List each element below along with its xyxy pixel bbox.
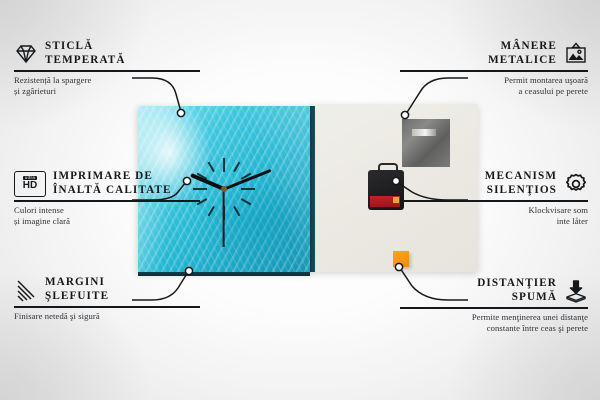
callout-sub-line2: inte låter: [398, 216, 588, 227]
beveled-edge-icon: [14, 278, 38, 302]
feature-callout-mecanism-silentios: MECANISM SILENŢIOS Klockvisare som inte …: [398, 170, 588, 227]
callout-rule: [400, 70, 588, 72]
callout-title-line1: STICLĂ: [45, 40, 126, 54]
glass-edge-right: [310, 106, 315, 272]
feature-callout-sticla-temperata: STICLĂ TEMPERATĂ Rezistență la spargere …: [14, 40, 204, 97]
callout-head: MÂNERE METALICE: [398, 40, 588, 67]
callout-head: STICLĂ TEMPERATĂ: [14, 40, 204, 67]
clock-hand-cap: [221, 186, 227, 192]
callout-rule: [14, 70, 200, 72]
callout-title-line2: METALICE: [488, 54, 557, 68]
battery: [370, 196, 400, 207]
callout-sub-line2: constante între ceas şi perete: [398, 323, 588, 334]
callout-title-line2: TEMPERATĂ: [45, 54, 126, 68]
clock-face: [138, 106, 310, 272]
callout-title-line1: MECANISM: [485, 170, 557, 184]
product-image-front: [138, 106, 310, 272]
infographic-canvas: STICLĂ TEMPERATĂ Rezistență la spargere …: [0, 0, 600, 400]
callout-title-block: MECANISM SILENŢIOS: [485, 170, 557, 197]
callout-head: MARGINI ŞLEFUITE: [14, 276, 204, 303]
diamond-icon: [14, 42, 38, 66]
metal-hanger-plate: [402, 119, 450, 167]
callout-title-line2: SPUMĂ: [477, 291, 557, 305]
callout-sub-line1: Rezistență la spargere: [14, 75, 204, 86]
callout-sub-line1: Permite menţinerea unei distanţe: [398, 312, 588, 323]
callout-title-line2: ŞLEFUITE: [45, 290, 109, 304]
feature-callout-manere-metalice: MÂNERE METALICE Permit montarea uşoară a…: [398, 40, 588, 97]
callout-title-line1: DISTANŢIER: [477, 277, 557, 291]
feature-callout-distantier-spuma: DISTANŢIER SPUMĂ Permite menţinerea unei…: [398, 277, 588, 334]
callout-title-block: STICLĂ TEMPERATĂ: [45, 40, 126, 67]
callout-sub-line2: a ceasului pe perete: [398, 86, 588, 97]
callout-sub-line1: Permit montarea uşoară: [398, 75, 588, 86]
foam-spacer-arrow-icon: [564, 279, 588, 303]
callout-title-block: DISTANŢIER SPUMĂ: [477, 277, 557, 304]
ultra-hd-icon-big-label: HD: [23, 181, 37, 191]
ultra-hd-icon: ultra HD: [14, 171, 46, 197]
callout-sub-line2: și zgârieturi: [14, 86, 204, 97]
clock-hand-second: [223, 189, 225, 247]
callout-title-block: MÂNERE METALICE: [488, 40, 557, 67]
callout-title-line1: MARGINI: [45, 276, 109, 290]
callout-rule: [14, 306, 200, 308]
foam-spacer: [393, 251, 409, 267]
callout-sub-line1: Klockvisare som: [398, 205, 588, 216]
callout-sub-line1: Finisare netedă şi sigură: [14, 311, 204, 322]
gear-icon: [564, 172, 588, 196]
callout-rule: [400, 307, 588, 309]
feature-callout-margini-slefuite: MARGINI ŞLEFUITE Finisare netedă şi sigu…: [14, 276, 204, 322]
callout-rule: [400, 200, 588, 202]
callout-head: DISTANŢIER SPUMĂ: [398, 277, 588, 304]
callout-title-block: MARGINI ŞLEFUITE: [45, 276, 109, 303]
callout-title-line1: MÂNERE: [488, 40, 557, 54]
callout-head: MECANISM SILENŢIOS: [398, 170, 588, 197]
picture-frame-hanger-icon: [564, 42, 588, 66]
callout-title-line2: SILENŢIOS: [485, 184, 557, 198]
